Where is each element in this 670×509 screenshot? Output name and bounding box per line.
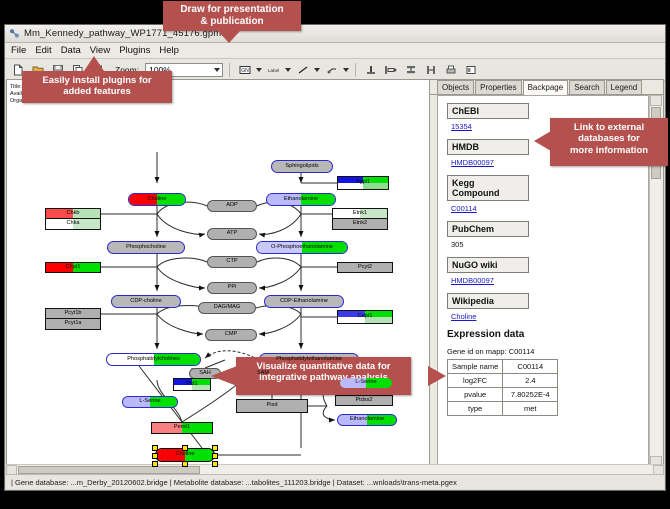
node-label: Etnk2: [353, 221, 367, 227]
pathway-edges: [7, 80, 430, 468]
table-row: log2FC 2.4: [448, 374, 558, 388]
print-icon[interactable]: [442, 61, 459, 78]
menu-item-help[interactable]: Help: [159, 45, 179, 56]
callout-external-links: Link to external databases for more info…: [550, 118, 668, 166]
node-label: Choline: [148, 197, 167, 203]
node-label: Pemt1: [174, 425, 190, 431]
node-l-serine-right[interactable]: L-Serine: [339, 377, 393, 389]
node-label: CDP-choline: [130, 299, 161, 305]
cell-value: 7.80252E-4: [503, 388, 558, 402]
node-o-phosphoethanolamine[interactable]: O-Phosphoethanolamine: [256, 241, 348, 254]
node-l-serine-left[interactable]: L-Serine: [122, 396, 178, 408]
status-bar: | Gene database: ...m_Derby_20120602.bri…: [6, 474, 664, 489]
cell-label: log2FC: [448, 374, 503, 388]
label-icon[interactable]: Label: [265, 61, 282, 78]
resize-handle-nw[interactable]: [152, 445, 158, 451]
node-pcyt1b[interactable]: Pcyt1b: [45, 308, 101, 319]
cell-value: C00114: [503, 360, 558, 374]
resize-handle-w[interactable]: [152, 453, 158, 459]
shape-icon[interactable]: [462, 61, 479, 78]
callout-line-2: added features: [22, 86, 172, 97]
node-chkb[interactable]: Chkb: [45, 208, 101, 219]
node-ethanolamine-bottom[interactable]: Ethanolamine: [337, 414, 397, 426]
db-header-chebi: ChEBI: [447, 103, 529, 119]
table-row: type met: [448, 402, 558, 416]
scroll-up-button[interactable]: [650, 95, 662, 106]
node-label: Ethanolamine: [284, 197, 318, 203]
node-pcyt1a[interactable]: Pcyt1a: [45, 319, 101, 330]
node-cdp-ethanolamine[interactable]: CDP-Ethanolamine: [264, 295, 344, 308]
expression-table: Sample name C00114 log2FC 2.4 pvalue 7.8…: [447, 359, 558, 416]
db-header-hmdb: HMDB: [447, 139, 529, 155]
node-label: Phosphocholine: [126, 245, 166, 251]
node-label: Phosphatidylethanolamine: [276, 357, 342, 363]
interaction-icon[interactable]: [323, 61, 340, 78]
menu-item-edit[interactable]: Edit: [35, 45, 51, 56]
db-header-wikipedia: Wikipedia: [447, 293, 529, 309]
node-ppi[interactable]: PPi: [207, 282, 257, 294]
table-row: pvalue 7.80252E-4: [448, 388, 558, 402]
svg-text:Label: Label: [268, 67, 279, 72]
resize-handle-n[interactable]: [182, 445, 188, 451]
node-label: CTP: [226, 259, 237, 265]
distribute-icon[interactable]: [422, 61, 439, 78]
datanode-icon[interactable]: GN: [236, 61, 253, 78]
node-label: Pcyt1b: [64, 311, 81, 317]
scrollbar-thumb[interactable]: [18, 466, 200, 474]
node-label: Etnk1: [353, 211, 367, 217]
align-left-icon[interactable]: [382, 61, 399, 78]
node-label: Sphingolipids: [285, 164, 318, 170]
node-ctp[interactable]: CTP: [207, 256, 257, 268]
line-icon[interactable]: [294, 61, 311, 78]
line-dropdown-icon[interactable]: [314, 68, 320, 72]
callout-visualize-arrow-right-icon: [428, 366, 446, 386]
node-label: L-Serine: [355, 380, 376, 386]
tab-backpage[interactable]: Backpage: [523, 80, 569, 95]
node-atp[interactable]: ATP: [207, 228, 257, 240]
node-chka[interactable]: Chka: [45, 219, 101, 230]
node-chpt1[interactable]: Chpt1: [45, 262, 101, 273]
side-panel-tabs: Objects Properties Backpage Search Legen…: [430, 80, 663, 95]
node-label: Pisd: [267, 403, 278, 409]
tab-objects[interactable]: Objects: [437, 80, 474, 94]
node-sgpl1[interactable]: Sgpl1: [337, 176, 389, 190]
node-label: PPi: [228, 285, 237, 291]
callout-line-3: more information: [550, 145, 668, 156]
resize-handle-s[interactable]: [182, 461, 188, 467]
node-pcyt2[interactable]: Pcyt2: [337, 262, 393, 273]
resize-handle-sw[interactable]: [152, 461, 158, 467]
tab-properties[interactable]: Properties: [475, 80, 521, 94]
node-label: L-Serine: [139, 399, 160, 405]
node-label: Pld1: [186, 382, 197, 388]
callout-line-1: Draw for presentation: [163, 4, 301, 16]
cell-value: 2.4: [503, 374, 558, 388]
node-phosphocholine[interactable]: Phosphocholine: [107, 241, 185, 254]
node-label: Chka: [66, 221, 79, 227]
menu-item-file[interactable]: File: [11, 45, 26, 56]
node-pisd[interactable]: Pisd: [236, 399, 308, 413]
cell-label: type: [448, 402, 503, 416]
db-value-pubchem: 305: [451, 240, 648, 249]
callout-install-plugins: Easily install plugins for added feature…: [22, 71, 172, 103]
node-cept1[interactable]: Cept1: [337, 310, 393, 324]
datanode-dropdown-icon[interactable]: [256, 68, 262, 72]
tab-search[interactable]: Search: [569, 80, 604, 94]
node-etnk1[interactable]: Etnk1: [332, 208, 388, 219]
node-label: Choline: [176, 452, 195, 458]
node-label: O-Phosphoethanolamine: [271, 245, 333, 251]
resize-handle-ne[interactable]: [212, 445, 218, 451]
node-ptdss2[interactable]: Ptdss2: [335, 395, 393, 406]
db-header-pubchem: PubChem: [447, 221, 529, 237]
callout-plugins-arrow-icon: [84, 56, 104, 71]
callout-draw-for-publication: Draw for presentation & publication: [163, 1, 301, 31]
db-header-nugo-wiki: NuGO wiki: [447, 257, 529, 273]
db-header-kegg-compound: Kegg Compound: [447, 175, 529, 201]
node-label: Pcyt1a: [64, 321, 81, 327]
tab-legend[interactable]: Legend: [606, 80, 643, 94]
label-dropdown-icon[interactable]: [285, 68, 291, 72]
node-label: Pcyt2: [358, 265, 372, 271]
cell-label: Sample name: [448, 360, 503, 374]
menu-item-plugins[interactable]: Plugins: [119, 45, 150, 56]
expression-data-heading: Expression data: [447, 329, 648, 340]
node-label: DAG/MAG: [214, 305, 240, 311]
node-label: ADP: [226, 203, 238, 209]
node-label: Sgpl1: [356, 180, 370, 186]
callout-line-1: Easily install plugins for: [22, 75, 172, 86]
node-cdp-choline[interactable]: CDP-choline: [111, 295, 181, 308]
title-bar: Mm_Kennedy_pathway_WP1771_45176.gpml: [5, 25, 665, 43]
db-link-nugo-wiki[interactable]: HMDB00097: [451, 276, 648, 285]
node-dagmag[interactable]: DAG/MAG: [198, 302, 256, 314]
node-adp[interactable]: ADP: [207, 200, 257, 212]
callout-line-2: & publication: [163, 16, 301, 28]
callout-links-arrow-icon: [534, 131, 551, 151]
node-cmp[interactable]: CMP: [205, 329, 257, 341]
node-label: CDP-Ethanolamine: [280, 299, 328, 305]
toolbar-separator-2: [355, 63, 356, 77]
node-label: SAM: [257, 371, 269, 377]
node-pld1[interactable]: Pld1: [173, 378, 211, 391]
cell-value: met: [503, 402, 558, 416]
toolbar-separator: [229, 63, 230, 77]
chevron-down-icon: [214, 68, 220, 72]
node-label: Ethanolamine: [350, 417, 384, 423]
callout-line-1: Link to external: [550, 122, 668, 133]
svg-text:GN: GN: [241, 68, 249, 74]
node-phosphatidylcholines[interactable]: Phosphatidylcholines: [106, 353, 201, 366]
node-choline-top[interactable]: Choline: [128, 193, 186, 206]
resize-handle-se[interactable]: [212, 461, 218, 467]
node-label: Chkb: [66, 211, 79, 217]
stack-icon[interactable]: [402, 61, 419, 78]
node-label: Cept1: [358, 314, 373, 320]
callout-visualize-arrow-icon: [211, 366, 237, 386]
node-label: ATP: [227, 231, 237, 237]
pathvisio-icon: [9, 28, 20, 39]
db-link-kegg-compound[interactable]: C00114: [451, 204, 648, 213]
callout-line-2: databases for: [550, 133, 668, 144]
node-sphingolipids[interactable]: Sphingolipids: [271, 160, 333, 173]
interaction-dropdown-icon[interactable]: [343, 68, 349, 72]
node-label: SAH: [199, 371, 211, 377]
menu-item-view[interactable]: View: [90, 45, 110, 56]
node-label: Ptdss2: [355, 398, 372, 404]
menu-item-data[interactable]: Data: [61, 45, 81, 56]
resize-handle-e[interactable]: [212, 453, 218, 459]
align-top-icon[interactable]: [362, 61, 379, 78]
node-ethanolamine-top[interactable]: Ethanolamine: [266, 193, 336, 206]
node-pemt1[interactable]: Pemt1: [151, 422, 213, 434]
screenshot-root: Mm_Kennedy_pathway_WP1771_45176.gpml Fil…: [0, 0, 670, 509]
node-label: CMP: [225, 332, 237, 338]
db-link-wikipedia[interactable]: Choline: [451, 312, 648, 321]
gene-id-on-mapp: Gene id on mapp: C00114: [447, 347, 648, 356]
node-label: Phosphatidylcholines: [127, 357, 180, 363]
node-etnk2[interactable]: Etnk2: [332, 219, 388, 230]
node-label: Chpt1: [66, 265, 81, 271]
table-row: Sample name C00114: [448, 360, 558, 374]
cell-label: pvalue: [448, 388, 503, 402]
menu-bar: File Edit Data View Plugins Help: [5, 43, 665, 59]
callout-draw-arrow-icon: [218, 31, 240, 43]
pathway-canvas[interactable]: Title: Availa Organ: [6, 79, 430, 468]
status-bar-text: | Gene database: ...m_Derby_20120602.bri…: [11, 478, 457, 487]
